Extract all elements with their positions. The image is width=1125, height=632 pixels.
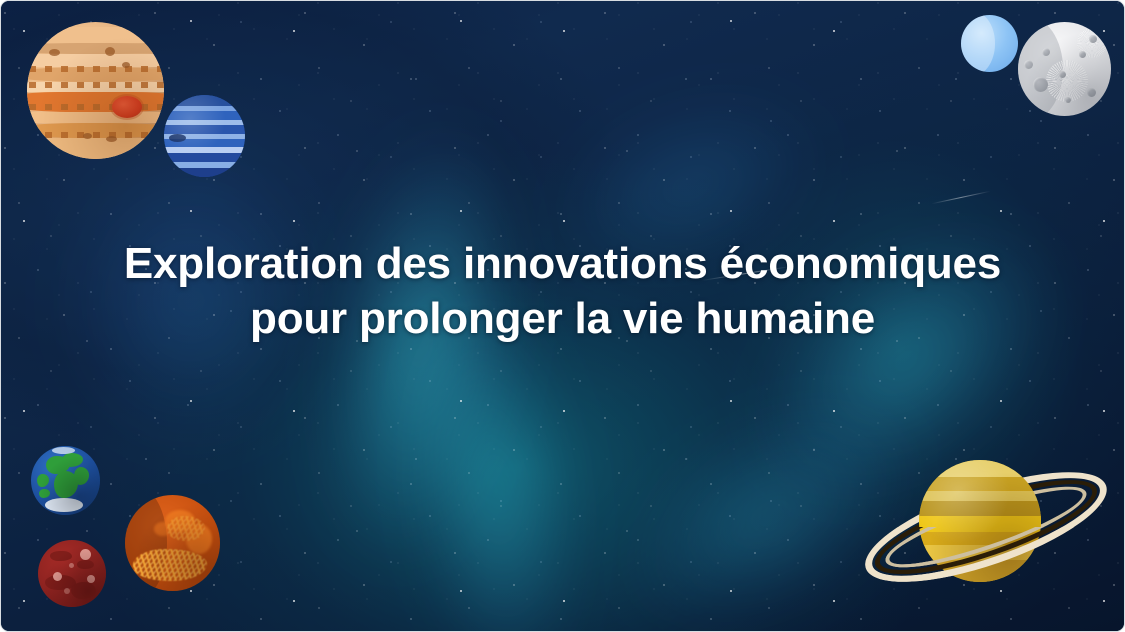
presentation-slide: Exploration des innovations économiques …: [0, 0, 1125, 632]
saturn-rings-front: [853, 527, 1119, 607]
planet-jupiter: [27, 22, 164, 159]
slide-title: Exploration des innovations économiques …: [101, 237, 1024, 346]
planet-saturn: [853, 447, 1119, 607]
title-block: Exploration des innovations économiques …: [1, 237, 1124, 346]
planet-uranus: [961, 15, 1018, 72]
planet-io: [125, 495, 220, 591]
planet-earth: [31, 446, 100, 515]
planet-moon: [1018, 22, 1111, 116]
planet-mars: [38, 540, 106, 607]
planet-neptune: [164, 95, 245, 177]
